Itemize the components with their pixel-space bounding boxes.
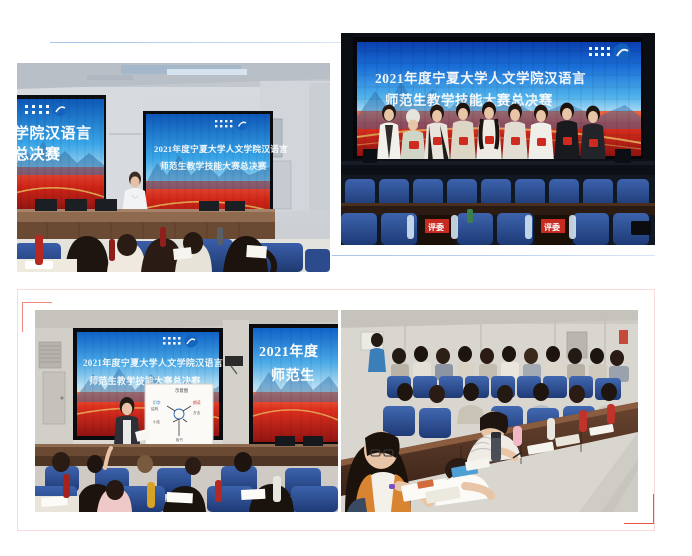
svg-text:识字: 识字 <box>153 400 161 405</box>
svg-text:师范生教学技能大赛总决赛: 师范生教学技能大赛总决赛 <box>385 92 553 108</box>
svg-text:2021年度宁夏大学人文学院汉语言: 2021年度宁夏大学人文学院汉语言 <box>154 143 288 154</box>
svg-text:2021年度: 2021年度 <box>259 343 319 360</box>
photo-2-scene: 2021年度宁夏大学人文学院汉语言 师范生教学技能大赛总决赛 <box>341 33 655 245</box>
svg-text:板书: 板书 <box>176 437 183 442</box>
photo-1-led-screen-left: 学院汉语言 总决赛 <box>17 95 106 215</box>
svg-text:朗读: 朗读 <box>193 400 201 405</box>
photo-audience-taking-notes <box>341 310 638 512</box>
top-divider-line <box>50 42 345 43</box>
svg-text:小结: 小结 <box>153 419 160 424</box>
judge-plate-label-1: 评委 <box>428 222 445 232</box>
svg-text:师范生教学技能大赛总决赛: 师范生教学技能大赛总决赛 <box>160 160 267 171</box>
svg-text:示意图: 示意图 <box>175 387 189 394</box>
photo-4-scene <box>341 310 638 512</box>
photo-2-participants <box>377 102 606 163</box>
svg-text:学院汉语言: 学院汉语言 <box>17 124 92 142</box>
bottom-divider-line <box>332 255 655 256</box>
svg-text:总决赛: 总决赛 <box>17 145 61 163</box>
judge-plate-label-2: 评委 <box>544 222 561 232</box>
svg-text:师范生: 师范生 <box>271 367 315 384</box>
photo-contestant-whiteboard-demo: 2021年度宁夏大学人文学院汉语言 师范生教学技能大赛总决赛 2021年度 师范… <box>35 310 338 512</box>
svg-text:方法: 方法 <box>193 410 201 415</box>
svg-text:2021年度宁夏大学人文学院汉语言: 2021年度宁夏大学人文学院汉语言 <box>83 357 223 368</box>
photo-3-scene: 2021年度宁夏大学人文学院汉语言 师范生教学技能大赛总决赛 2021年度 师范… <box>35 310 338 512</box>
photo-lecture-hall-speaker: 学院汉语言 总决赛 <box>17 63 330 272</box>
svg-text:结构: 结构 <box>151 406 159 411</box>
photo-3-led-screen-right: 2021年度 师范生 <box>249 324 338 446</box>
photo-group-award-ceremony: 2021年度宁夏大学人文学院汉语言 师范生教学技能大赛总决赛 <box>341 33 655 245</box>
photo-2-seating: 评委 评委 <box>341 175 655 245</box>
page-canvas: 学院汉语言 总决赛 <box>0 0 692 556</box>
svg-text:2021年度宁夏大学人文学院汉语言: 2021年度宁夏大学人文学院汉语言 <box>375 70 586 86</box>
photo-1-scene: 学院汉语言 总决赛 <box>17 63 330 272</box>
